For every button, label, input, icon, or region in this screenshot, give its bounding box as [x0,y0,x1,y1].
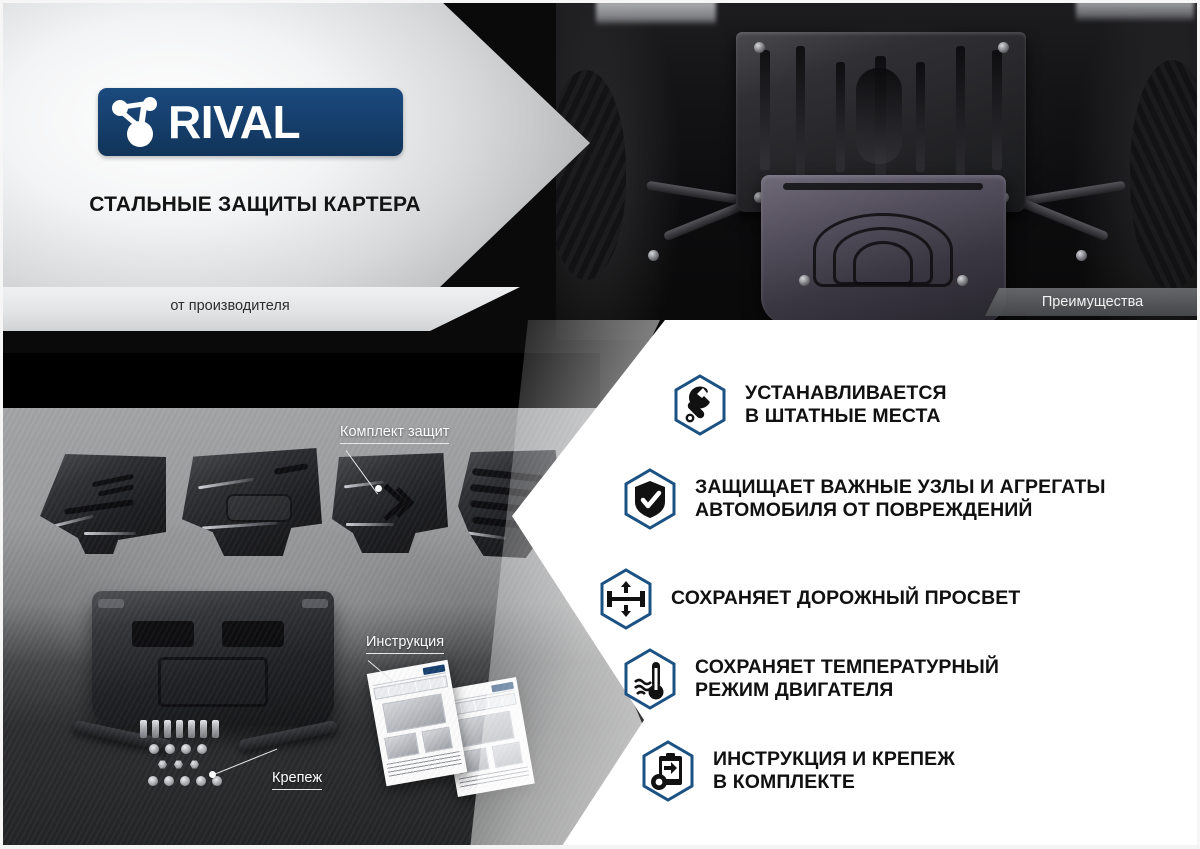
features-list: УСТАНАВЛИВАЕТСЯ В ШТАТНЫЕ МЕСТА ЗАЩИЩАЕТ… [600,360,1200,830]
shield-check-icon [622,468,678,530]
molecule-icon [108,94,170,150]
floor-glow [40,528,470,708]
mounting-bracket [238,720,338,753]
advantages-tab-label: Преимущества [1042,294,1143,310]
callout-fasteners: Крепеж [272,770,322,790]
canvas-edge [0,0,1200,3]
feature-item-install: УСТАНАВЛИВАЕТСЯ В ШТАТНЫЕ МЕСТА [672,374,947,436]
feature-text: УСТАНАВЛИВАЕТСЯ В ШТАТНЫЕ МЕСТА [745,382,947,429]
chevron-emboss [372,481,432,527]
feature-text: СОХРАНЯЕТ ДОРОЖНЫЙ ПРОСВЕТ [671,587,1020,610]
bolt [164,720,171,738]
washer [148,776,158,786]
photo-highlight [596,0,716,26]
feature-text: ЗАЩИЩАЕТ ВАЖНЫЕ УЗЛЫ И АГРЕГАТЫ АВТОМОБИ… [695,476,1106,523]
feature-text: ИНСТРУКЦИЯ И КРЕПЕЖ В КОМПЛЕКТЕ [713,748,955,795]
callout-kit-leader [346,450,379,494]
wrench-icon [672,374,728,436]
washer [180,776,190,786]
rival-product-banner: Преимущества RIVAL СТАЛЬНЫЕ ЗАЩИТЫ КАРТЕ… [0,0,1200,849]
bolt [152,720,159,738]
callout-fasteners-dot [209,771,216,778]
nut [174,760,183,769]
suspension-arm [1018,198,1109,242]
main-skid-plate [92,591,334,726]
bolt [176,720,183,738]
washer [149,744,159,754]
bolt [188,720,195,738]
nut [158,760,167,769]
tire-right [1130,60,1200,290]
feature-item-protects: ЗАЩИЩАЕТ ВАЖНЫЕ УЗЛЫ И АГРЕГАТЫ АВТОМОБИ… [622,468,1106,530]
tire-left [556,70,626,280]
callout-fasteners-label: Крепеж [272,770,322,790]
washer [165,744,175,754]
callout-kit-label: Комплект защит [340,424,449,444]
skid-plate-part [40,454,166,554]
page-title: СТАЛЬНЫЕ ЗАЩИТЫ КАРТЕРА [60,193,450,218]
nut [190,760,199,769]
canvas-edge [0,845,1200,849]
skid-plate-lower [761,175,1006,325]
manual-hardware-icon [640,740,696,802]
mounting-bracket [72,720,172,753]
callout-instruction-leader [368,660,405,692]
bolt [200,720,207,738]
feature-item-manual: ИНСТРУКЦИЯ И КРЕПЕЖ В КОМПЛЕКТЕ [640,740,955,802]
rival-logo: RIVAL [98,88,403,156]
callout-kit: Комплект защит [340,424,449,444]
bolt [140,720,147,738]
canvas-edge [0,0,3,849]
washer [181,744,191,754]
callout-instruction: Инструкция [366,634,444,654]
page-subtitle: от производителя [60,298,400,314]
advantages-tab: Преимущества [985,288,1200,316]
photo-highlight [1076,0,1194,22]
feature-text: СОХРАНЯЕТ ТЕМПЕРАТУРНЫЙ РЕЖИМ ДВИГАТЕЛЯ [695,656,999,703]
callout-kit-dot [375,485,382,492]
feature-item-temperature: СОХРАНЯЕТ ТЕМПЕРАТУРНЫЙ РЕЖИМ ДВИГАТЕЛЯ [622,648,999,710]
thermometer-icon [622,648,678,710]
callout-instruction-label: Инструкция [366,634,444,654]
rival-logo-text: RIVAL [168,99,300,145]
divider-band [0,353,600,413]
washer [196,776,206,786]
washer [164,776,174,786]
bolt [1076,250,1087,261]
washer [212,776,222,786]
skid-plate-part [332,453,448,553]
washer [197,744,207,754]
feature-item-clearance: СОХРАНЯЕТ ДОРОЖНЫЙ ПРОСВЕТ [598,568,1020,630]
bolt [212,720,219,738]
skid-plate-part [182,448,322,556]
callout-fasteners-leader [214,749,277,775]
ground-clearance-icon [598,568,654,630]
instruction-sheet-front [367,660,468,787]
bolt [648,250,659,261]
